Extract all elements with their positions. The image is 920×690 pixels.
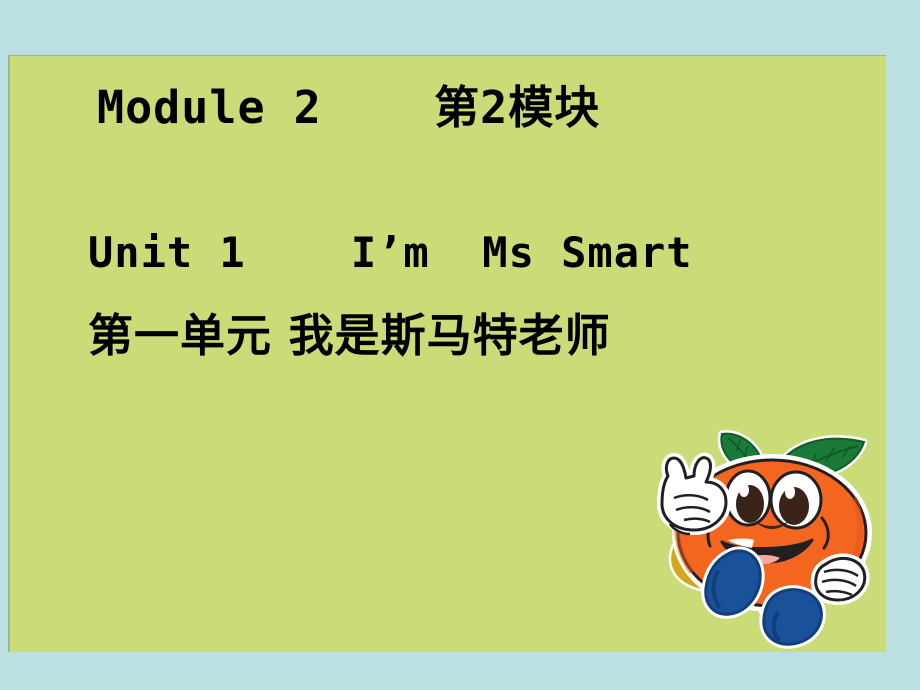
mascot-fist-glove [816, 558, 865, 600]
unit-title-chinese: 第一单元 我是斯马特老师 [88, 313, 611, 358]
unit-title-english: Unit 1 I’m Ms Smart [88, 232, 693, 274]
presentation-slide: Module 2 第2模块 Unit 1 I’m Ms Smart 第一单元 我… [0, 0, 920, 690]
page-title-module: Module 2 第2模块 [97, 85, 600, 130]
orange-mascot-icon [644, 420, 884, 652]
mascot-left-shoe [706, 551, 760, 614]
mascot-right-shoe [764, 590, 822, 645]
